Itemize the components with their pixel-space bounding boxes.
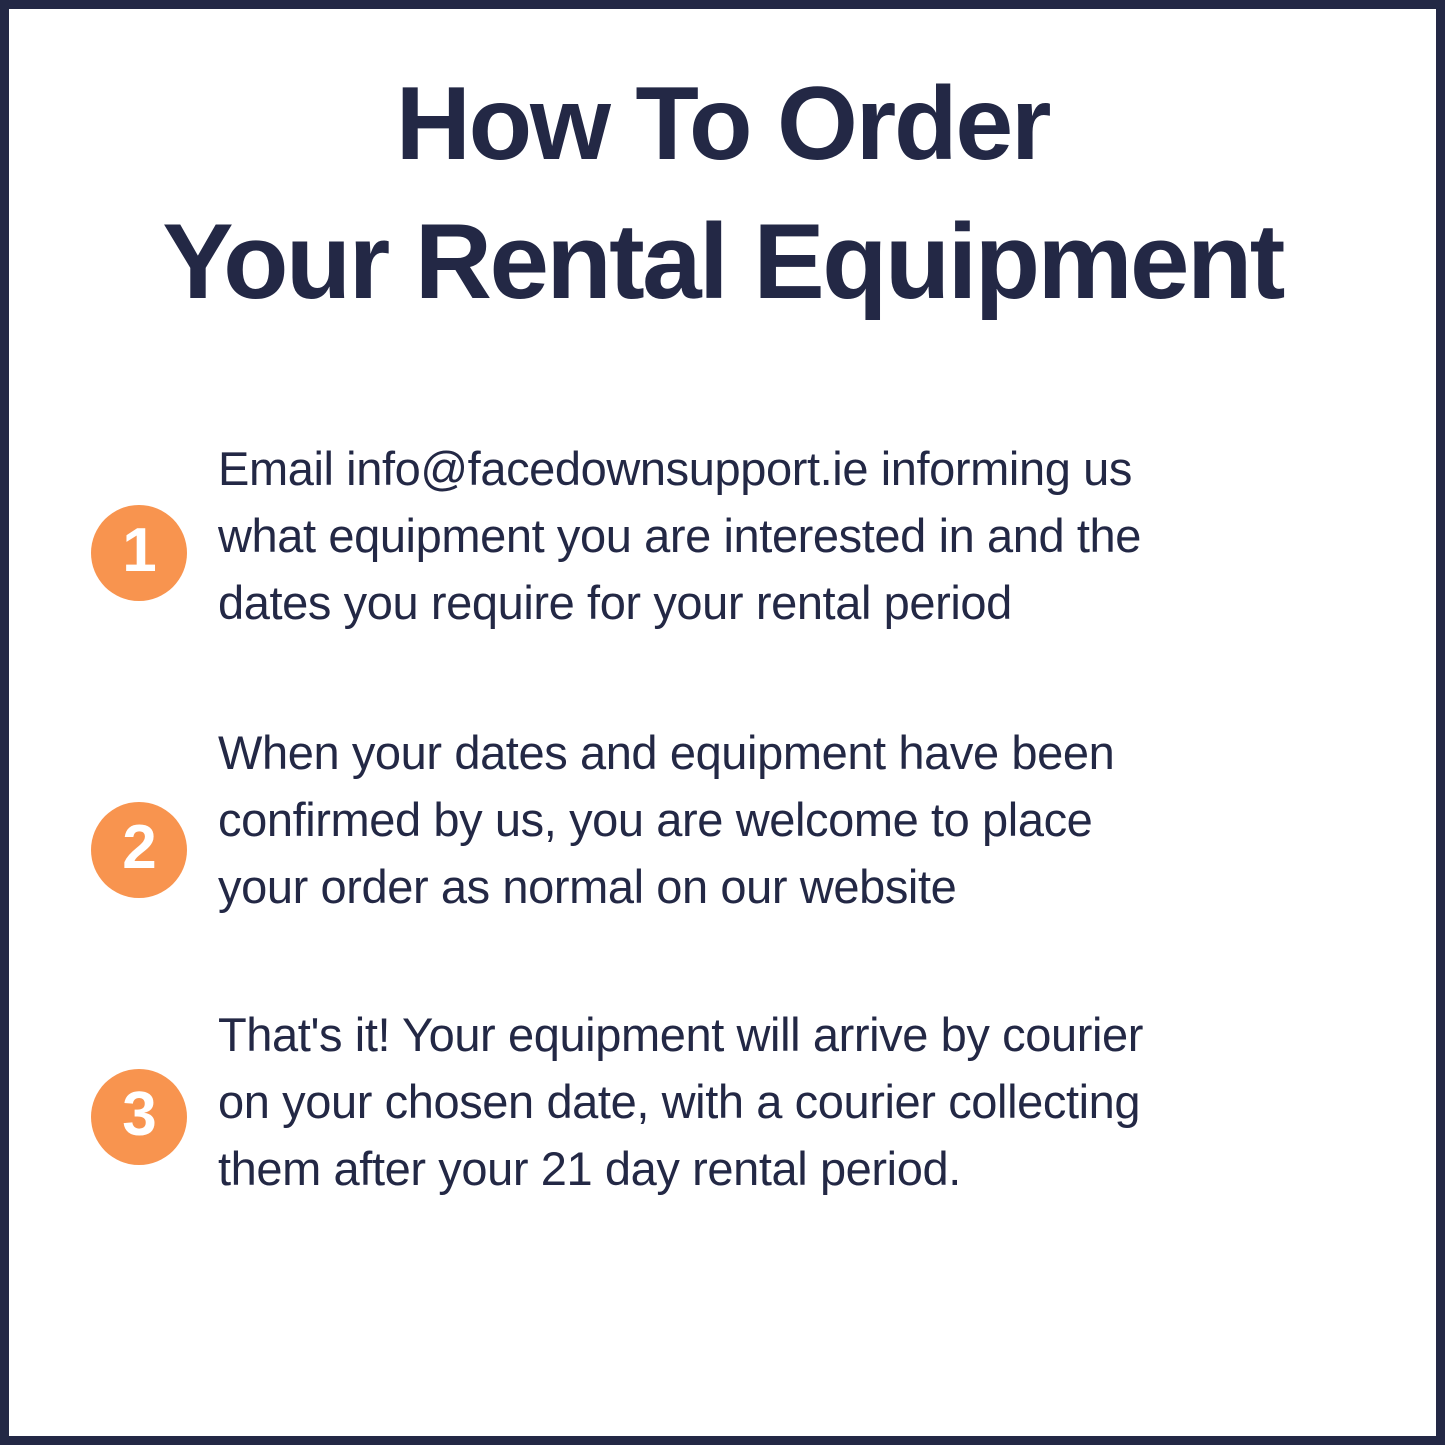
- step-1-line-2: what equipment you are interested in and…: [218, 502, 1346, 569]
- page-title: How To Order Your Rental Equipment: [9, 57, 1436, 331]
- list-item: 1 Email info@facedownsupport.ie informin…: [9, 421, 1436, 711]
- step-description-3: That's it! Your equipment will arrive by…: [218, 1001, 1346, 1202]
- step-2-line-2: confirmed by us, you are welcome to plac…: [218, 786, 1346, 853]
- steps-list: 1 Email info@facedownsupport.ie informin…: [9, 421, 1436, 1291]
- step-1-line-3: dates you require for your rental period: [218, 569, 1346, 636]
- list-item: 2 When your dates and equipment have bee…: [9, 711, 1436, 1001]
- step-2-line-3: your order as normal on our website: [218, 853, 1346, 920]
- page-title-line-1: How To Order: [21, 57, 1424, 192]
- step-3-line-1: That's it! Your equipment will arrive by…: [218, 1001, 1346, 1068]
- step-description-1: Email info@facedownsupport.ie informing …: [218, 435, 1346, 636]
- step-3-line-2: on your chosen date, with a courier coll…: [218, 1068, 1346, 1135]
- list-item: 3 That's it! Your equipment will arrive …: [9, 1001, 1436, 1291]
- poster-canvas: How To Order Your Rental Equipment 1 Ema…: [0, 0, 1445, 1445]
- step-description-2: When your dates and equipment have been …: [218, 719, 1346, 920]
- step-2-line-1: When your dates and equipment have been: [218, 719, 1346, 786]
- step-1-line-1: Email info@facedownsupport.ie informing …: [218, 435, 1346, 502]
- step-number-badge-2: 2: [91, 802, 187, 898]
- step-3-line-3: them after your 21 day rental period.: [218, 1135, 1346, 1202]
- step-number-badge-3: 3: [91, 1069, 187, 1165]
- step-number-badge-1: 1: [91, 505, 187, 601]
- page-title-line-2: Your Rental Equipment: [21, 192, 1424, 331]
